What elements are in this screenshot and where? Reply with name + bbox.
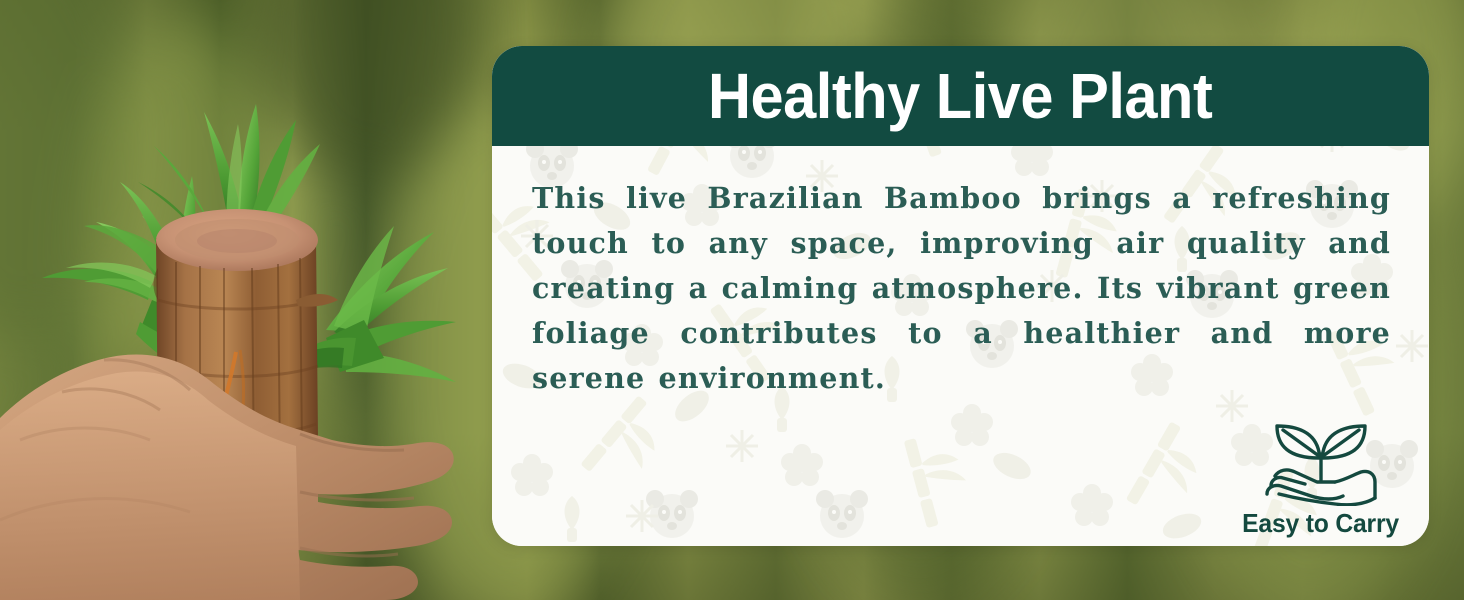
- product-photo: [0, 0, 470, 600]
- badge-label: Easy to Carry: [1243, 508, 1400, 538]
- page-title: Healthy Live Plant: [708, 64, 1212, 128]
- info-card: Healthy Live Plant This live Brazilian B…: [492, 46, 1429, 546]
- banner-stage: Healthy Live Plant This live Brazilian B…: [0, 0, 1464, 600]
- card-body: This live Brazilian Bamboo brings a refr…: [492, 146, 1429, 401]
- easy-to-carry-badge: Easy to Carry: [1231, 402, 1411, 538]
- card-header: Healthy Live Plant: [492, 46, 1429, 146]
- hand-holding-sprout-icon: [1265, 402, 1377, 506]
- product-description: This live Brazilian Bamboo brings a refr…: [532, 176, 1391, 401]
